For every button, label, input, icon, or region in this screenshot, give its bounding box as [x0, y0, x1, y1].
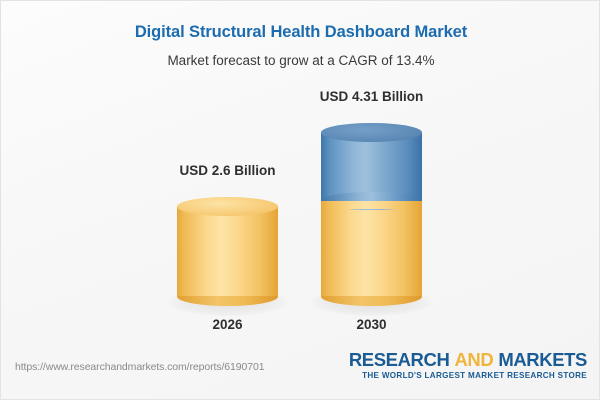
logo-word-research: RESEARCH	[349, 349, 450, 370]
chart-footer: https://www.researchandmarkets.com/repor…	[1, 341, 600, 399]
logo-word-and: AND	[454, 349, 493, 370]
chart-plot-area: USD 2.6 Billion 2026 USD 4.31 Billion	[1, 1, 600, 341]
bar-cylinder-top-ellipse-2030	[321, 123, 422, 142]
bar-cylinder-top-ellipse-2026	[177, 197, 278, 216]
bar-cylinder-segment-base-2030	[321, 201, 422, 296]
bar-cylinder-2030	[321, 123, 422, 306]
bar-cylinder-segment-base-overlap-2030	[321, 201, 422, 209]
bar-group-2030: USD 4.31 Billion 2030	[321, 1, 422, 341]
bar-value-label-2030: USD 4.31 Billion	[262, 89, 482, 104]
bar-value-label-2026: USD 2.6 Billion	[118, 163, 338, 178]
market-forecast-chart-card: Digital Structural Health Dashboard Mark…	[0, 0, 600, 400]
logo-word-markets: MARKETS	[498, 349, 587, 370]
bar-category-label-2030: 2030	[262, 317, 482, 332]
logo-tagline: THE WORLD'S LARGEST MARKET RESEARCH STOR…	[349, 370, 587, 381]
bar-group-2026: USD 2.6 Billion 2026	[177, 1, 278, 341]
research-and-markets-logo[interactable]: RESEARCHANDMARKETS THE WORLD'S LARGEST M…	[349, 349, 587, 381]
bar-cylinder-segment-growth-2030	[321, 132, 422, 201]
bar-cylinder-body-2026	[177, 206, 278, 296]
logo-wordmark: RESEARCHANDMARKETS	[349, 349, 587, 370]
bar-cylinder-2026	[177, 197, 278, 306]
source-url-link[interactable]: https://www.researchandmarkets.com/repor…	[15, 361, 264, 373]
